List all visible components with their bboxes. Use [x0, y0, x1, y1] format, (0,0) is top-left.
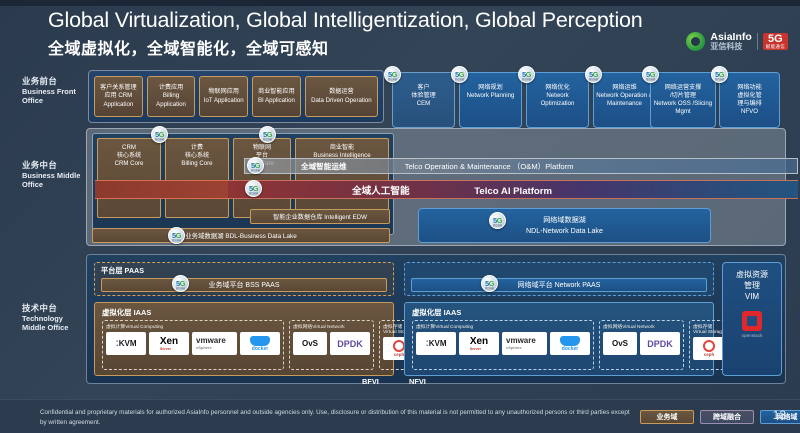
sub-title-compute: 虚拟计算Virtual Computing [416, 323, 590, 330]
ceph-logo-icon: ceph [693, 337, 725, 360]
app-label-en: BI Application [258, 97, 295, 104]
app-box-crm[interactable]: 客户关系管理应用 CRM Application [94, 76, 143, 117]
app-label-cn: 商业智能应用 [258, 88, 295, 95]
bss-iaas-group: 虚拟化层 IAAS 虚拟计算Virtual Computing :KVM Xen… [94, 302, 394, 376]
top-accent-bar [0, 0, 800, 6]
bdl-box[interactable]: 业务域数据湖 BDL-Business Data Lake [92, 228, 390, 243]
xen-logo-icon: XenServer [459, 332, 499, 355]
iaas-group-title: 虚拟化层 IAAS [412, 307, 461, 318]
vim-label-cn1: 虚拟资源 [723, 269, 781, 280]
openstack-label: openstack [723, 333, 781, 339]
network-column-cem[interactable]: 客户 体验管理CEM [392, 72, 455, 128]
sub-title-storage: 虚拟存储Virtual Storage [693, 323, 725, 335]
app-box-iot[interactable]: 物联网应用IoT Application [199, 76, 248, 117]
ovs-logo-icon: OvS [293, 332, 327, 355]
side-label-cn: 业务前台 [22, 76, 86, 87]
legend-item-business-domain[interactable]: 业务域 [640, 410, 694, 424]
ovs-logo-icon: OvS [603, 332, 637, 355]
brand-divider [757, 33, 758, 50]
app-label-en: IoT Application [204, 97, 244, 104]
5g-chip-icon: 5G亚信科技 [168, 227, 185, 244]
network-paas-group: 网络域平台 Network PAAS [404, 262, 714, 296]
netcol-label-en: CEM [417, 100, 431, 107]
side-label-en: Business Front Office [22, 87, 86, 106]
om-platform-bar[interactable]: 全域智能运维 Telco Operation & Maintenance （O&… [244, 158, 798, 174]
ndl-label-en: NDL-Network Data Lake [526, 226, 603, 236]
5g-chip-icon: 5G亚信科技 [247, 157, 264, 174]
ai-platform-bar[interactable]: 全域人工智能 Telco AI Platform [228, 180, 798, 199]
iaas-group-title: 虚拟化层 IAAS [102, 307, 151, 318]
disclaimer-text: Confidential and proprietary materials f… [40, 408, 630, 428]
asiainfo-mark-icon [686, 32, 705, 51]
sub-title-compute: 虚拟计算Virtual Computing [106, 323, 280, 330]
side-label-business-front: 业务前台 Business Front Office [22, 76, 86, 105]
side-label-technology-middle: 技术中台 Technology Middle Office [22, 303, 86, 332]
docker-logo-icon: docker [550, 332, 590, 355]
app-label-cn: 客户关系管理 [100, 84, 137, 91]
5g-chip-icon: 5G亚信科技 [384, 66, 401, 83]
5g-chip-icon: 5G亚信科技 [451, 66, 468, 83]
bfvi-label: BFVI [362, 377, 379, 386]
5g-chip-icon: 5G亚信科技 [481, 275, 498, 292]
5g-badge-icon: 5G 赋能通信 [763, 33, 788, 50]
vmware-logo-icon: vmwarevSphere [502, 332, 547, 355]
netcol-label-cn: 网络运维 [612, 84, 636, 91]
openstack-logo-icon [742, 311, 762, 331]
netcol-label-cn: 网络功能 虚拟化管 理与编排 [737, 84, 761, 107]
app-label-en: 应用 CRM Application [103, 92, 133, 107]
kvm-logo-icon: :KVM [106, 332, 146, 355]
5g-chip-icon: 5G亚信科技 [642, 66, 659, 83]
app-label-cn: 物联网应用 [208, 88, 238, 95]
core-label-cn1: 计费 [191, 144, 203, 151]
slide-footer: Confidential and proprietary materials f… [0, 399, 800, 433]
core-label-cn1: 商业智能 [330, 144, 354, 151]
vim-label-cn2: 管理 [723, 280, 781, 291]
virtual-computing-sub: 虚拟计算Virtual Computing :KVM XenServer vmw… [412, 320, 594, 370]
ai-platform-label-en: Telco AI Platform [474, 186, 552, 197]
5g-chip-icon: 5G亚信科技 [259, 126, 276, 143]
virtual-computing-sub: 虚拟计算Virtual Computing :KVM XenServer vmw… [102, 320, 284, 370]
nfv-iaas-group: 虚拟化层 IAAS 虚拟计算Virtual Computing :KVM Xen… [404, 302, 714, 376]
core-label-en: CRM Core [115, 160, 144, 167]
5g-chip-icon: 5G亚信科技 [151, 126, 168, 143]
xen-logo-icon: XenServer [149, 332, 189, 355]
netcol-label-cn: 网络运营支撑 /切片管理 [665, 84, 702, 99]
network-column-planning[interactable]: 网络规划Network Planning [459, 72, 522, 128]
om-platform-label-en: Telco Operation & Maintenance （O&M）Platf… [405, 162, 574, 171]
core-box-crm[interactable]: CRM 核心系统 CRM Core [97, 138, 161, 218]
nfvi-label: NFVI [409, 377, 426, 386]
side-label-cn: 业务中台 [22, 160, 86, 171]
app-label-en: Data Driven Operation [311, 97, 372, 104]
core-box-iot[interactable]: 物联网 平台 IoT Core [233, 138, 291, 218]
page-title: Global Virtualization, Global Intelligen… [48, 8, 768, 33]
core-box-business-intelligence[interactable]: 商业智能 Business Intelligence [295, 138, 389, 218]
virtual-network-sub: 虚拟网络Virtual Network OvS DPDK [599, 320, 684, 370]
vim-label-en: VIM [723, 291, 781, 302]
side-label-en: Business Middle Office [22, 171, 86, 190]
netcol-label-en: Network Optimization [541, 92, 575, 107]
bdl-label: 业务域数据湖 BDL-Business Data Lake [185, 231, 297, 240]
core-label-cn1: CRM [122, 144, 136, 151]
network-paas-label: 网络域平台 Network PAAS [518, 280, 601, 290]
5g-chip-icon: 5G亚信科技 [245, 180, 262, 197]
5g-badge-sub: 赋能通信 [766, 45, 785, 50]
netcol-label-en: Network Planning [467, 92, 515, 99]
ndl-box[interactable]: 网络域数据湖 NDL-Network Data Lake [418, 208, 711, 243]
side-label-cn: 技术中台 [22, 303, 86, 314]
app-label-cn: 数据运营 [329, 88, 353, 95]
core-label-cn1: 物联网 [253, 144, 271, 151]
ndl-label-cn: 网络域数据湖 [543, 215, 586, 225]
app-label-en: Billing Application [156, 92, 186, 107]
vim-column[interactable]: 虚拟资源 管理 VIM openstack [722, 262, 782, 376]
business-front-office-panel: 客户关系管理应用 CRM Application 计费应用Billing App… [88, 70, 384, 123]
core-box-billing[interactable]: 计费 核心系统 Billing Core [165, 138, 229, 218]
app-box-billing[interactable]: 计费应用Billing Application [147, 76, 196, 117]
bss-paas-label: 业务域平台 BSS PAAS [208, 280, 279, 290]
dpdk-logo-icon: DPDK [640, 332, 680, 355]
5g-chip-icon: 5G亚信科技 [172, 275, 189, 292]
page-subtitle: 全域虚拟化，全域智能化，全域可感知 [48, 35, 768, 59]
5g-chip-icon: 5G亚信科技 [711, 66, 728, 83]
netcol-label-en: Network OSS /Slicing Mgmt [654, 100, 712, 115]
netcol-label-en: Network Operation & Maintenance [596, 92, 653, 107]
dpdk-logo-icon: DPDK [330, 332, 370, 355]
brand-name-cn: 亚信科技 [710, 43, 751, 51]
netcol-label-cn: 网络优化 [545, 84, 569, 91]
side-label-en: Technology Middle Office [22, 314, 86, 333]
sub-title-network: 虚拟网络Virtual Network [603, 323, 680, 330]
app-box-data-operation[interactable]: 数据运营Data Driven Operation [305, 76, 378, 117]
bss-paas-group: 平台层 PAAS 业务域平台 BSS PAAS [94, 262, 394, 296]
bss-paas-bar[interactable]: 业务域平台 BSS PAAS [101, 278, 387, 292]
sub-title-network: 虚拟网络Virtual Network [293, 323, 370, 330]
vmware-logo-icon: vmwarevSphere [192, 332, 237, 355]
core-label-en: Billing Core [181, 160, 212, 167]
docker-logo-icon: docker [240, 332, 280, 355]
network-column-oss-slicing[interactable]: 网络运营支撑 /切片管理Network OSS /Slicing Mgmt [650, 72, 716, 128]
edw-label: 智能企业数据仓库 Intelligent EDW [273, 212, 367, 221]
page-number: 13 [773, 408, 786, 422]
ai-platform-label-cn: 全域人工智能 [352, 186, 410, 197]
app-box-bi[interactable]: 商业智能应用BI Application [252, 76, 301, 117]
5g-chip-icon: 5G亚信科技 [518, 66, 535, 83]
network-column-nfvo[interactable]: 网络功能 虚拟化管 理与编排NFVO [719, 72, 780, 128]
netcol-label-cn: 客户 体验管理 [411, 84, 435, 99]
app-label-cn: 计费应用 [159, 84, 183, 91]
om-platform-label-cn: 全域智能运维 [301, 162, 347, 171]
core-label-cn2: 核心系统 [117, 152, 141, 159]
netcol-label-en: NFVO [741, 108, 758, 115]
5g-chip-icon: 5G亚信科技 [489, 212, 506, 229]
core-label-cn2: 核心系统 [185, 152, 209, 159]
asiainfo-logo: AsiaInfo 亚信科技 5G 赋能通信 [686, 32, 788, 51]
netcol-label-cn: 网络规划 [478, 84, 502, 91]
network-column-optimization[interactable]: 网络优化Network Optimization [526, 72, 589, 128]
edw-box[interactable]: 智能企业数据仓库 Intelligent EDW [250, 209, 390, 224]
5g-chip-icon: 5G亚信科技 [585, 66, 602, 83]
paas-group-title: 平台层 PAAS [101, 266, 144, 276]
legend-item-cross-domain[interactable]: 跨域融合 [700, 410, 754, 424]
virtual-network-sub: 虚拟网络Virtual Network OvS DPDK [289, 320, 374, 370]
side-label-business-middle: 业务中台 Business Middle Office [22, 160, 86, 189]
network-paas-bar[interactable]: 网络域平台 Network PAAS [411, 278, 707, 292]
ai-highlight-strip [95, 180, 230, 199]
kvm-logo-icon: :KVM [416, 332, 456, 355]
slide-header: Global Virtualization, Global Intelligen… [48, 8, 768, 59]
